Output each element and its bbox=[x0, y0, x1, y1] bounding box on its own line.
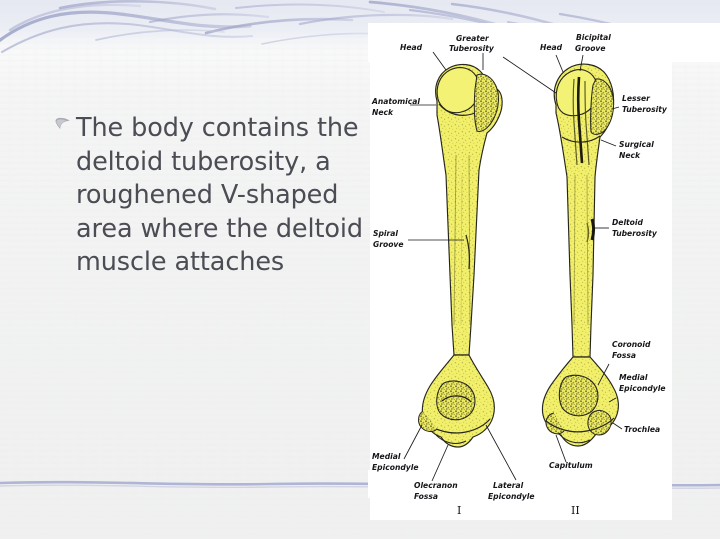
body-text: The body contains the deltoid tuberosity… bbox=[76, 112, 364, 280]
label-medial-epicondyle-right-line2: Epicondyle bbox=[619, 384, 666, 393]
label-surgical-neck-line2: Neck bbox=[619, 151, 641, 160]
label-lesser-tuberosity-line2: Tuberosity bbox=[622, 105, 668, 114]
label-anatomical-neck-line1: Anatomical bbox=[371, 97, 420, 106]
label-coronoid-fossa-line1: Coronoid bbox=[612, 340, 651, 349]
figure-numeral-1: I bbox=[457, 504, 461, 517]
label-surgical-neck-line1: Surgical bbox=[619, 140, 654, 149]
body-text-block: The body contains the deltoid tuberosity… bbox=[54, 112, 364, 280]
hook-bullet-icon bbox=[54, 117, 71, 143]
label-coronoid-fossa-line2: Fossa bbox=[612, 351, 636, 360]
label-deltoid-tuberosity-line2: Tuberosity bbox=[612, 229, 658, 238]
label-head: Head bbox=[400, 43, 423, 52]
humerus-figure-panel: Head Greater Tuberosity Anatomical Neck … bbox=[370, 25, 672, 520]
figure-numeral-2: II bbox=[571, 504, 580, 517]
label-lateral-epicondyle-line2: Epicondyle bbox=[488, 492, 535, 501]
bullet-list-item: The body contains the deltoid tuberosity… bbox=[54, 112, 364, 280]
label-olecranon-fossa-line1: Olecranon bbox=[414, 481, 458, 490]
label-anatomical-neck-line2: Neck bbox=[372, 108, 394, 117]
slide-canvas: The body contains the deltoid tuberosity… bbox=[0, 0, 720, 539]
label-medial-epicondyle-left-line1: Medial bbox=[372, 452, 401, 461]
label-greater-tuberosity-line2: Tuberosity bbox=[449, 44, 495, 53]
label-medial-epicondyle-left-line2: Epicondyle bbox=[372, 463, 419, 472]
label-bicipital-groove-line1: Bicipital bbox=[576, 33, 611, 42]
label-olecranon-fossa-line2: Fossa bbox=[414, 492, 438, 501]
humerus-diagram: Head Greater Tuberosity Anatomical Neck … bbox=[370, 25, 672, 520]
label-bicipital-groove-line2: Groove bbox=[575, 44, 606, 53]
label-greater-tuberosity-line1: Greater bbox=[456, 34, 490, 43]
label-lateral-epicondyle-line1: Lateral bbox=[493, 481, 524, 490]
label-spiral-groove-line1: Spiral bbox=[373, 229, 398, 238]
label-trochlea: Trochlea bbox=[624, 425, 660, 434]
label-deltoid-tuberosity-line1: Deltoid bbox=[612, 218, 644, 227]
label-lesser-tuberosity-line1: Lesser bbox=[622, 94, 651, 103]
label-head-2: Head bbox=[540, 43, 563, 52]
label-spiral-groove-line2: Groove bbox=[373, 240, 404, 249]
label-medial-epicondyle-right-line1: Medial bbox=[619, 373, 648, 382]
label-capitulum: Capitulum bbox=[549, 461, 593, 470]
